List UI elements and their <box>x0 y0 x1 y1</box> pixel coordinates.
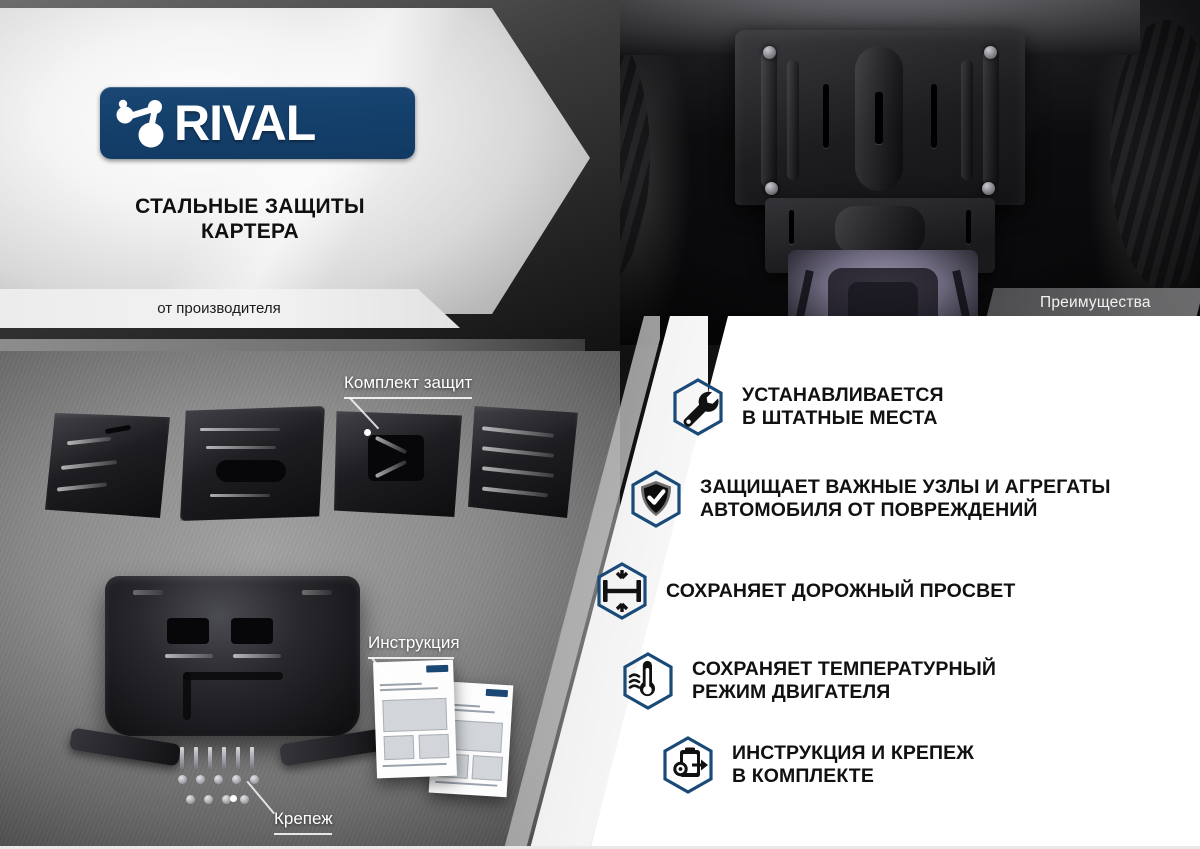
plate-1 <box>45 413 170 518</box>
callout-kit: Комплект защит <box>344 373 472 393</box>
page-title: СТАЛЬНЫЕ ЗАЩИТЫ КАРТЕРА <box>0 194 500 244</box>
page-title-line2: КАРТЕРА <box>0 219 500 244</box>
feature-item-1: УСТАНАВЛИВАЕТСЯ В ШТАТНЫЕ МЕСТА <box>672 378 944 436</box>
header-bottom-strip <box>0 339 585 351</box>
shield-check-hexagon-icon <box>630 470 682 528</box>
feature-item-3: СОХРАНЯЕТ ДОРОЖНЫЙ ПРОСВЕТ <box>596 562 1015 620</box>
feature-4-line2: РЕЖИМ ДВИГАТЕЛЯ <box>692 681 996 704</box>
feature-5-line1: ИНСТРУКЦИЯ И КРЕПЕЖ <box>732 742 974 765</box>
callout-hardware: Крепеж <box>274 809 333 829</box>
feature-3-line1: СОХРАНЯЕТ ДОРОЖНЫЙ ПРОСВЕТ <box>666 580 1015 603</box>
feature-item-2: ЗАЩИЩАЕТ ВАЖНЫЕ УЗЛЫ И АГРЕГАТЫ АВТОМОБИ… <box>630 470 1111 528</box>
wrench-hexagon-icon <box>672 378 724 436</box>
rival-promo-banner: Преимущества RIVAL <box>0 0 1200 849</box>
feature-item-4: СОХРАНЯЕТ ТЕМПЕРАТУРНЫЙ РЕЖИМ ДВИГАТЕЛЯ <box>622 652 996 710</box>
subtitle-band: от производителя <box>0 289 460 328</box>
advantages-tab-label: Преимущества <box>1040 294 1151 312</box>
header-panel: RIVAL СТАЛЬНЫЕ ЗАЩИТЫ КАРТЕРА от произво… <box>0 0 620 350</box>
ground-clearance-hexagon-icon <box>596 562 648 620</box>
rival-logo: RIVAL <box>100 87 415 159</box>
advantages-tab: Преимущества <box>986 288 1200 318</box>
feature-2-line2: АВТОМОБИЛЯ ОТ ПОВРЕЖДЕНИЙ <box>700 499 1111 522</box>
header-panel-sheen <box>0 8 590 338</box>
feature-5-line2: В КОМПЛЕКТЕ <box>732 765 974 788</box>
plate-2 <box>180 406 325 521</box>
feature-4-line1: СОХРАНЯЕТ ТЕМПЕРАТУРНЫЙ <box>692 658 996 681</box>
feature-item-5: ИНСТРУКЦИЯ И КРЕПЕЖ В КОМПЛЕКТЕ <box>662 736 974 794</box>
molecule-icon <box>112 94 178 152</box>
thermometer-hexagon-icon <box>622 652 674 710</box>
clipboard-hardware-hexagon-icon <box>662 736 714 794</box>
plate-3 <box>334 409 462 517</box>
feature-1-line1: УСТАНАВЛИВАЕТСЯ <box>742 384 944 407</box>
feature-1-line2: В ШТАТНЫЕ МЕСТА <box>742 407 944 430</box>
callout-manual: Инструкция <box>368 633 460 653</box>
rival-logo-text: RIVAL <box>174 98 315 148</box>
subtitle-text: от производителя <box>157 300 280 317</box>
engine-guard-plate <box>105 576 360 736</box>
feature-2-line1: ЗАЩИЩАЕТ ВАЖНЫЕ УЗЛЫ И АГРЕГАТЫ <box>700 476 1111 499</box>
page-title-line1: СТАЛЬНЫЕ ЗАЩИТЫ <box>0 194 500 219</box>
plate-4 <box>468 406 578 518</box>
